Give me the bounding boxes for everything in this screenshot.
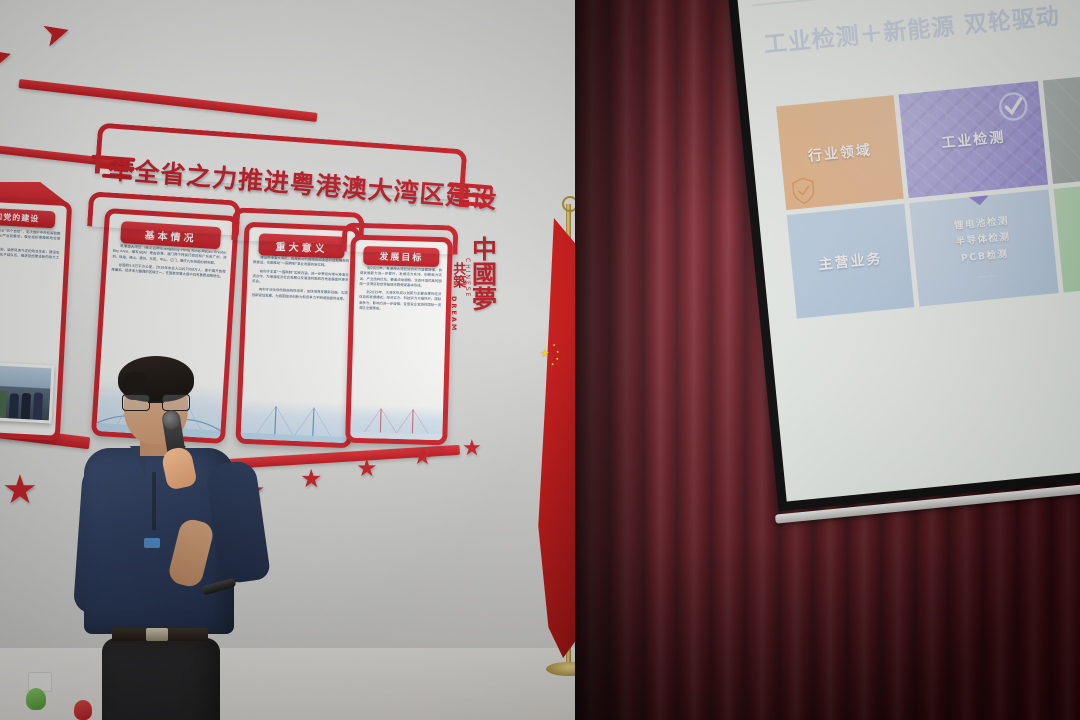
panel-text: 有利于丰富“一国两制”实践内涵，进一步密切内地与港澳交流合作，为港澳经济社会发展… — [252, 269, 349, 289]
eyeglasses-icon — [122, 394, 190, 409]
wall-star-icon: ★ — [2, 470, 38, 510]
slide-matrix: 行业领域 工业检测 — [776, 73, 1080, 324]
matrix-cell-industrial-inspection: 工业检测 — [899, 81, 1048, 198]
check-circle-icon — [997, 90, 1030, 123]
chinese-dream-emblem: 中國夢 共築 CHINESE DREAM — [448, 236, 540, 356]
floor-object — [26, 688, 46, 710]
slide-headline: 工业检测＋新能源 双轮驱动 — [762, 0, 1080, 59]
curtain-shadow — [575, 0, 660, 720]
matrix-cell-main-business: 主营业务 — [787, 204, 915, 319]
panel-text: 深化政治生活若干准则，涵养风清气正的政治生态，建设忠诚干净担当的高素质专业化干部… — [0, 245, 60, 266]
projection-screen-border: 核心 工业检测＋新能源 双轮驱动 行业领域 — [724, 0, 1080, 511]
emblem-en-top: CHINESE — [464, 258, 471, 298]
wall-star-icon: ★ — [462, 438, 482, 460]
emblem-sub-text: 共築 — [450, 262, 464, 288]
panel-text: 有利于深化供给侧结构性改革，加快培育发展新动能、实现创新驱动发展，为我国经济创新… — [252, 287, 348, 302]
name-badge — [144, 538, 160, 548]
projection-screen: 核心 工业检测＋新能源 双轮驱动 行业领域 — [724, 0, 1080, 511]
matrix-cell-new-energy — [1043, 70, 1080, 184]
wall-star-icon: ★ — [300, 466, 322, 491]
speaker-person — [78, 352, 263, 720]
panel-text: 到2035年，大湾区形成以创新为主要支撑的经济体系和发展模式，经济实力、科技实力… — [359, 290, 442, 313]
matrix-cell-label: 主营业务 — [818, 248, 884, 274]
speaker-trousers — [102, 638, 220, 720]
presentation-slide: 核心 工业检测＋新能源 双轮驱动 行业领域 — [734, 0, 1080, 501]
matrix-cell-label: 行业领域 — [807, 140, 873, 166]
matrix-cell-green — [1054, 178, 1080, 292]
panel-text: 坚持“四个意识”，坚定“四个自信”，坚决维护中央权威和集中统一领导，全面落实从严… — [0, 227, 61, 248]
business-list: 锂电池检测 半导体检测 PCB检测 …… — [953, 214, 1014, 282]
pointer-notch-icon — [968, 194, 991, 206]
panel-text: 到2022年，粤港澳大湾区综合实力显著增强，协调发展能力进一步提升，发展活力充沛… — [359, 266, 442, 289]
matrix-cell-industry-field: 行业领域 — [776, 95, 904, 210]
bridge-illustration — [350, 404, 443, 441]
wall-star-icon: ★ — [356, 456, 378, 480]
emblem-main-text: 中國夢 — [470, 236, 496, 311]
energy-texture — [1043, 70, 1080, 184]
wall-panel-partial-header: 导和党的建设 — [0, 207, 56, 228]
matrix-cell-business-list: 锂电池检测 半导体检测 PCB检测 …… — [909, 189, 1058, 306]
emblem-en-bottom: DREAM — [450, 296, 458, 332]
business-item-more: …… — [959, 267, 1015, 282]
belt-buckle — [146, 628, 168, 641]
bridge-svg — [350, 404, 443, 441]
flag-stars-icon: ★ ★ ★ ★ ★ — [540, 348, 551, 360]
wall-panel-photo — [0, 360, 55, 423]
slide-matrix-row: 行业领域 工业检测 — [776, 73, 1080, 210]
wall-star-icon: ★ — [412, 446, 433, 469]
panel-bracket — [342, 222, 459, 254]
speaker-shirt-placket — [152, 472, 156, 530]
wall-panel-goals: 发展目标 到2022年，粤港澳大湾区综合实力显著增强，协调发展能力进一步提升，发… — [345, 235, 453, 446]
presentation-photo-scene: ➤ ➤ 举全省之力推进粤港澳大湾区建设 导和党的建设 坚持“四个意识”，坚定“四… — [0, 0, 1080, 720]
wall-panel-partial: 导和党的建设 坚持“四个意识”，坚定“四个自信”，坚决维护中央权威和集中统一领导… — [0, 195, 72, 441]
shield-icon — [791, 176, 816, 205]
